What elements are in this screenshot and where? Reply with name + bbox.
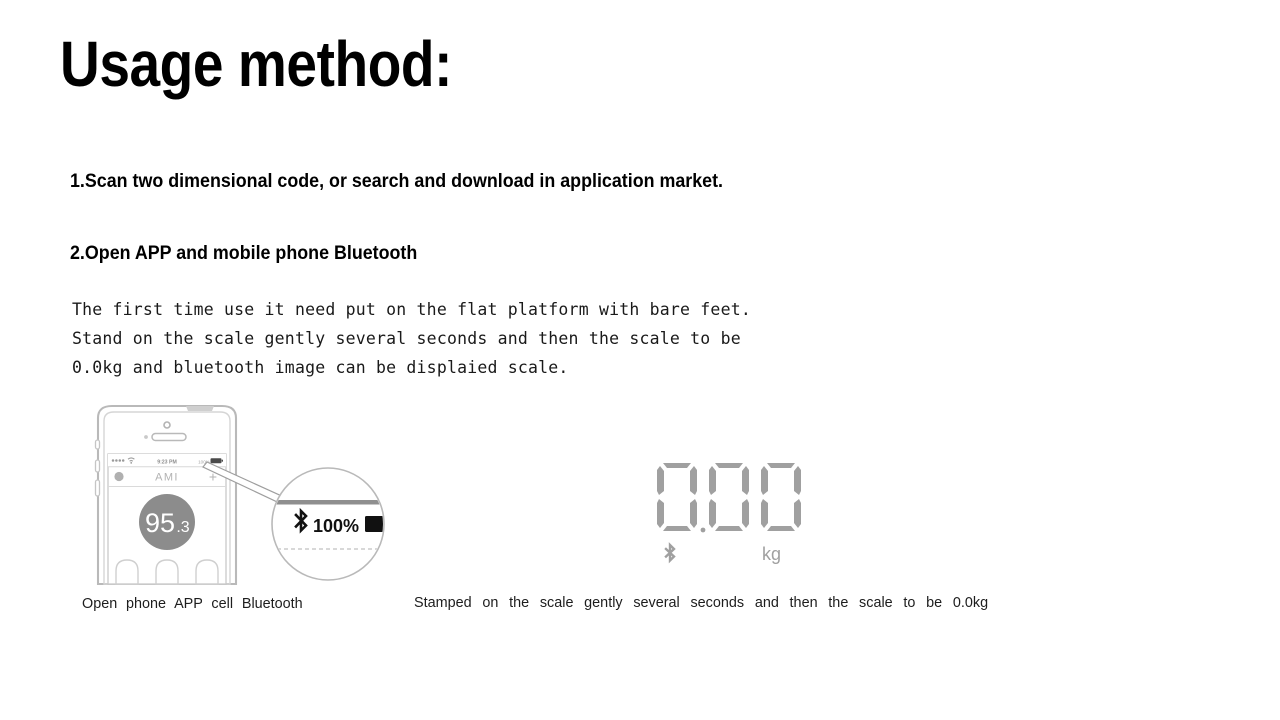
weight-value-major: 95 xyxy=(145,508,175,538)
app-header-title: AMI xyxy=(155,472,179,484)
lcd-decimal-point xyxy=(701,528,706,533)
status-bar-time: 9:23 PM xyxy=(157,460,177,466)
phone-volume-down-button xyxy=(96,480,100,496)
step-item-1: 1.Scan two dimensional code, or search a… xyxy=(70,171,723,193)
weight-value-minor: .3 xyxy=(176,519,189,536)
lcd-digit-2 xyxy=(709,463,749,531)
wifi-dot-icon xyxy=(130,462,132,464)
lcd-illustration-svg: kg xyxy=(640,450,840,580)
step-item-2: 2.Open APP and mobile phone Bluetooth xyxy=(70,243,417,265)
bluetooth-icon xyxy=(666,545,674,561)
lcd-digit-1 xyxy=(657,463,697,531)
magnifier-battery-label: 100% xyxy=(313,516,359,536)
page-title: Usage method: xyxy=(60,26,452,102)
instruction-paragraph: The first time use it need put on the fl… xyxy=(72,295,751,382)
profile-dot-icon[interactable] xyxy=(114,472,123,481)
lcd-unit-label: kg xyxy=(762,544,781,564)
magnifier-top-band xyxy=(270,500,390,505)
phone-illustration: 9:23 PM 100% AMI + 95 .3 xyxy=(80,404,400,584)
status-bar-battery-icon xyxy=(211,458,224,463)
phone-camera-icon xyxy=(164,422,170,428)
phone-sensor-icon xyxy=(144,435,148,439)
phone-mute-switch xyxy=(96,440,100,449)
phone-illustration-caption: Open phone APP cell Bluetooth xyxy=(82,594,303,614)
lcd-illustration: kg xyxy=(640,450,840,580)
lcd-illustration-caption: Stamped on the scale gently several seco… xyxy=(414,593,988,613)
phone-earpiece xyxy=(152,434,186,441)
phone-antenna-band xyxy=(186,406,214,411)
phone-volume-up-button xyxy=(96,460,100,472)
lcd-digit-3 xyxy=(761,463,801,531)
phone-bottom-shapes xyxy=(116,560,218,584)
phone-illustration-svg: 9:23 PM 100% AMI + 95 .3 xyxy=(80,404,400,584)
